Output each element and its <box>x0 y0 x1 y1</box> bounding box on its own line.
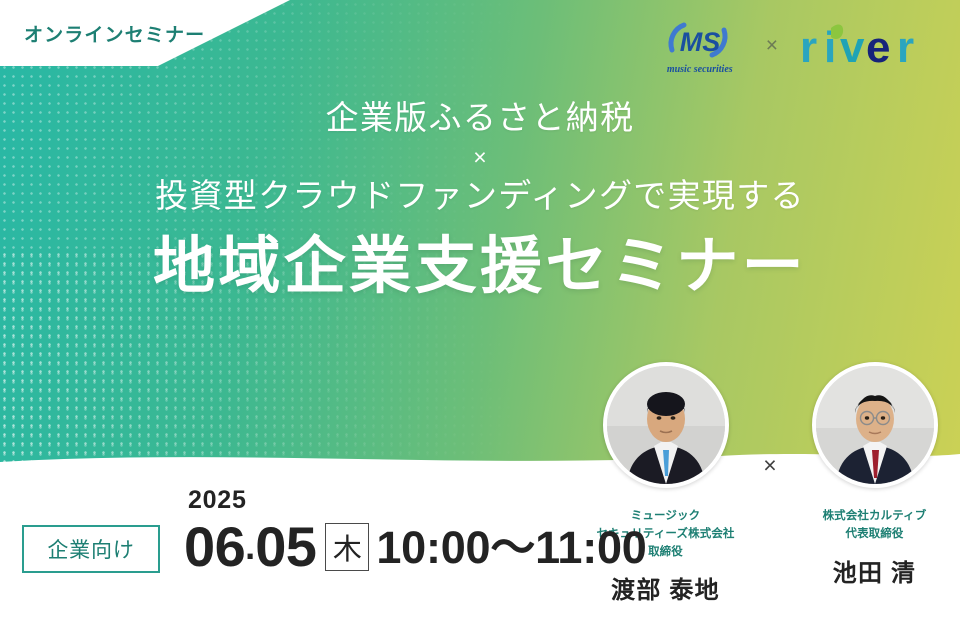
svg-text:MS: MS <box>679 27 720 57</box>
seminar-banner: オンラインセミナー MS music securities × r i v e … <box>0 0 960 640</box>
speaker-2-organization: 株式会社カルティブ 代表取締役 <box>792 508 957 544</box>
title-line-3: 投資型クラウドファンディングで実現する <box>0 174 960 218</box>
river-logo: r i v e r <box>798 20 938 72</box>
logo-separator-x: × <box>766 34 778 58</box>
speaker-2: 株式会社カルティブ 代表取締役 池田 清 <box>792 362 957 588</box>
event-date-line: 06 . 05 木 10:00〜11:00 <box>184 519 647 575</box>
ms-swoosh-icon: MS <box>654 18 746 64</box>
title-cross-symbol: × <box>0 140 960 175</box>
event-year: 2025 <box>184 488 647 513</box>
title-block: 企業版ふるさと納税 × 投資型クラウドファンディングで実現する 地域企業支援セミ… <box>0 96 960 303</box>
avatar <box>603 362 729 488</box>
event-time: 10:00〜11:00 <box>376 525 646 570</box>
main-headline: 地域企業支援セミナー <box>0 230 960 303</box>
audience-badge: 企業向け <box>22 525 160 573</box>
svg-text:r: r <box>800 23 817 72</box>
event-day: 05 <box>255 519 316 575</box>
avatar <box>812 362 938 488</box>
speaker-2-org-line-1: 株式会社カルティブ <box>792 508 957 526</box>
music-securities-caption: music securities <box>654 64 746 75</box>
speaker-separator-x: × <box>748 362 792 479</box>
event-month: 06 <box>184 519 245 575</box>
speaker-2-name: 池田 清 <box>792 553 957 588</box>
event-day-of-week: 木 <box>325 523 369 571</box>
title-line-1: 企業版ふるさと納税 <box>0 96 960 140</box>
logo-group: MS music securities × r i v e r <box>654 18 938 74</box>
online-seminar-tag-label: オンラインセミナー <box>24 20 205 47</box>
music-securities-logo: MS music securities <box>654 18 746 74</box>
speaker-2-org-line-2: 代表取締役 <box>792 526 957 544</box>
svg-text:e: e <box>866 23 890 72</box>
date-separator-dot: . <box>245 529 255 565</box>
svg-text:r: r <box>897 23 914 72</box>
speaker-1-name: 渡部 泰地 <box>583 570 748 605</box>
date-block: 2025 06 . 05 木 10:00〜11:00 <box>184 488 647 575</box>
date-bar: 企業向け 2025 06 . 05 木 10:00〜11:00 <box>22 488 647 575</box>
svg-text:v: v <box>840 23 865 72</box>
